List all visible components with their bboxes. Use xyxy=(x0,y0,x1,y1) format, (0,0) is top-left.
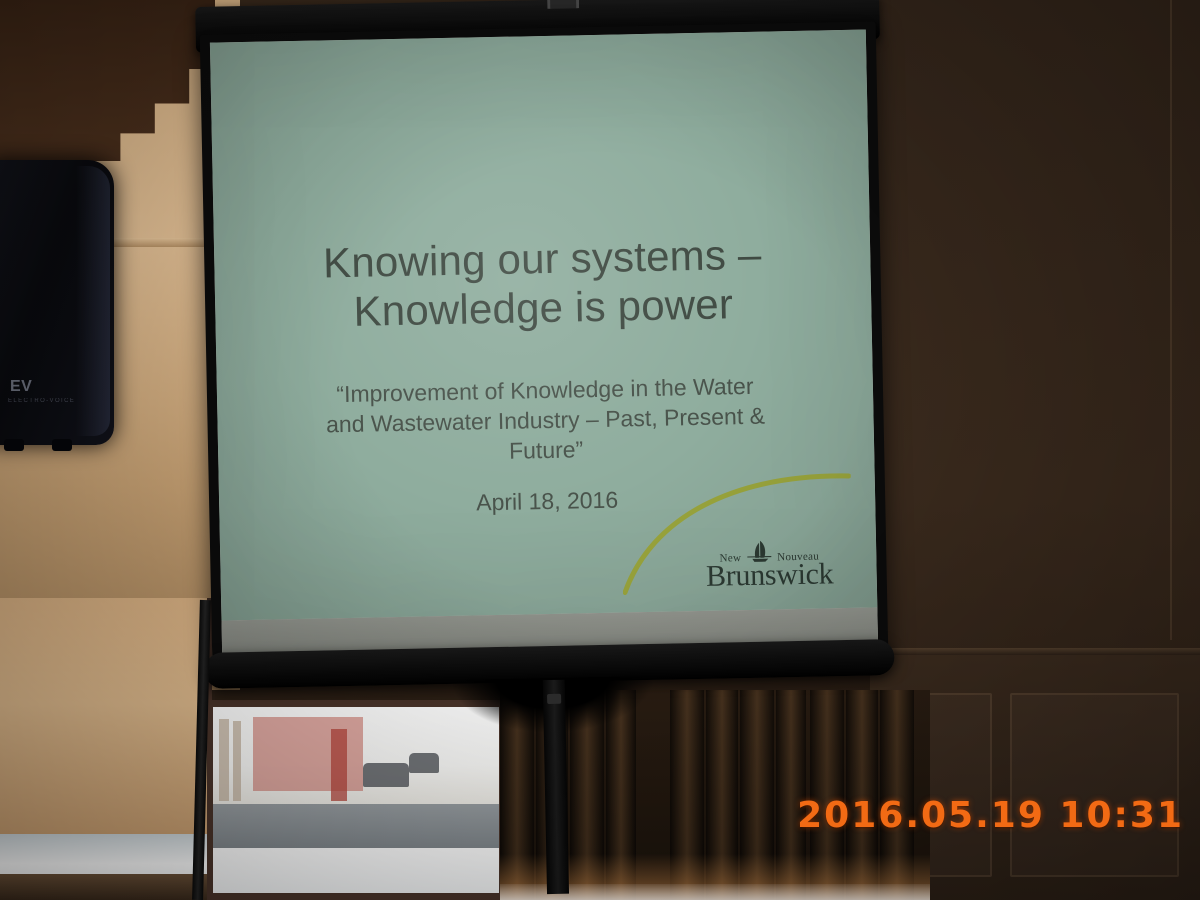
slide-subtitle: “Improvement of Knowledge in the Water a… xyxy=(217,369,875,472)
tripod-stem xyxy=(543,680,569,894)
window-snowbank xyxy=(213,848,499,893)
screen-hook-icon xyxy=(547,0,579,9)
projection-screen-assembly: Knowing our systems – Knowledge is power… xyxy=(189,0,903,701)
window-car xyxy=(409,753,439,773)
speaker-mount-foot xyxy=(52,439,72,451)
speaker-brand-subtext: ELECTRO-VOICE xyxy=(8,398,75,404)
slide-title-line-2: Knowledge is power xyxy=(353,280,733,335)
window-column xyxy=(219,719,229,801)
speaker-mount-foot xyxy=(4,439,24,451)
slide-subtitle-line-1: “Improvement of Knowledge in the Water xyxy=(336,373,754,407)
window-car xyxy=(363,763,409,787)
logo-wordmark: Brunswick xyxy=(694,560,845,592)
window-column xyxy=(233,721,241,801)
door-frame-edge xyxy=(1170,0,1172,640)
logo-wordmark-group: New Nouveau Brunswick xyxy=(694,536,845,591)
chair-rail xyxy=(870,648,1200,655)
speaker-highlight xyxy=(76,166,110,436)
blind-window xyxy=(0,598,212,900)
wainscot-panel xyxy=(1010,693,1179,877)
window-sill xyxy=(0,874,207,900)
tripod-adjust-knob xyxy=(547,694,561,704)
projected-slide: Knowing our systems – Knowledge is power… xyxy=(210,30,877,621)
camera-timestamp: 2016.05.19 10:31 xyxy=(797,795,1184,836)
window-building xyxy=(331,729,347,801)
slide-subtitle-line-3: Future” xyxy=(509,436,584,463)
slide-title: Knowing our systems – Knowledge is power xyxy=(214,227,872,338)
new-brunswick-logo: New Nouveau Brunswick xyxy=(620,462,853,597)
screen-black-border: Knowing our systems – Knowledge is power… xyxy=(200,21,889,666)
window-road xyxy=(213,804,499,852)
speaker-brand-label: EV xyxy=(10,378,32,396)
photo-scene: EV ELECTRO-VOICE Knowing our systems – K… xyxy=(0,0,1200,900)
slide-title-line-1: Knowing our systems – xyxy=(323,231,762,287)
wall-speaker: EV ELECTRO-VOICE xyxy=(0,160,114,445)
slide-subtitle-line-2: and Wastewater Industry – Past, Present … xyxy=(326,403,765,438)
roller-blind xyxy=(0,598,207,834)
screen-fabric: Knowing our systems – Knowledge is power… xyxy=(210,30,878,659)
